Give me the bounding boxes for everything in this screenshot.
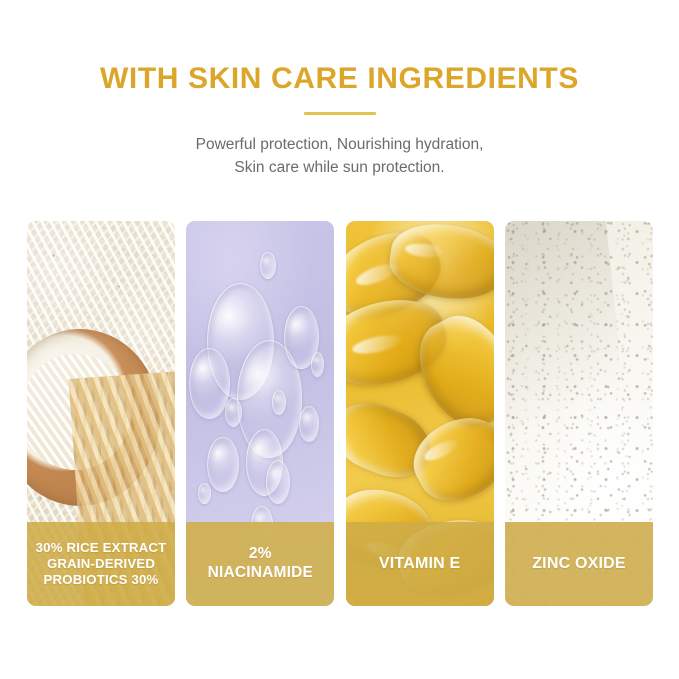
ingredient-card-row: 30% RICE EXTRACT GRAIN-DERIVED PROBIOTIC… — [27, 221, 653, 606]
serum-bubble — [198, 483, 210, 504]
serum-bubble — [189, 348, 229, 419]
serum-bubble — [207, 437, 239, 493]
label-line-1: ZINC OXIDE — [532, 554, 626, 574]
label-line-2: GRAIN-DERIVED — [36, 556, 167, 572]
card-label-band: 2% NIACINAMIDE — [186, 522, 334, 606]
card-label-text: 30% RICE EXTRACT GRAIN-DERIVED PROBIOTIC… — [36, 540, 167, 588]
label-line-1: VITAMIN E — [379, 554, 461, 574]
subtitle-line-2: Skin care while sun protection. — [0, 156, 679, 179]
card-label-band: 30% RICE EXTRACT GRAIN-DERIVED PROBIOTIC… — [27, 522, 175, 606]
ingredient-card-niacinamide: 2% NIACINAMIDE — [186, 221, 334, 606]
card-label-text: ZINC OXIDE — [532, 554, 626, 574]
card-label-band: ZINC OXIDE — [505, 522, 653, 606]
page-title: WITH SKIN CARE INGREDIENTS — [0, 0, 679, 95]
label-line-1: 2% — [208, 545, 314, 564]
ingredient-card-rice-extract: 30% RICE EXTRACT GRAIN-DERIVED PROBIOTIC… — [27, 221, 175, 606]
label-line-2: NIACINAMIDE — [208, 564, 314, 583]
serum-bubble — [225, 398, 242, 427]
serum-bubble — [260, 252, 275, 279]
label-line-1: 30% RICE EXTRACT — [36, 540, 167, 556]
header: WITH SKIN CARE INGREDIENTS Powerful prot… — [0, 0, 679, 180]
card-label-band: VITAMIN E — [346, 522, 494, 606]
subtitle-line-1: Powerful protection, Nourishing hydratio… — [0, 133, 679, 156]
card-label-text: VITAMIN E — [379, 554, 461, 574]
ingredient-card-vitamin-e: VITAMIN E — [346, 221, 494, 606]
serum-bubble — [299, 406, 319, 443]
subtitle: Powerful protection, Nourishing hydratio… — [0, 115, 679, 180]
ingredient-card-zinc-oxide: ZINC OXIDE — [505, 221, 653, 606]
label-line-3: PROBIOTICS 30% — [36, 572, 167, 588]
infographic-page: WITH SKIN CARE INGREDIENTS Powerful prot… — [0, 0, 679, 679]
card-label-text: 2% NIACINAMIDE — [208, 545, 314, 583]
